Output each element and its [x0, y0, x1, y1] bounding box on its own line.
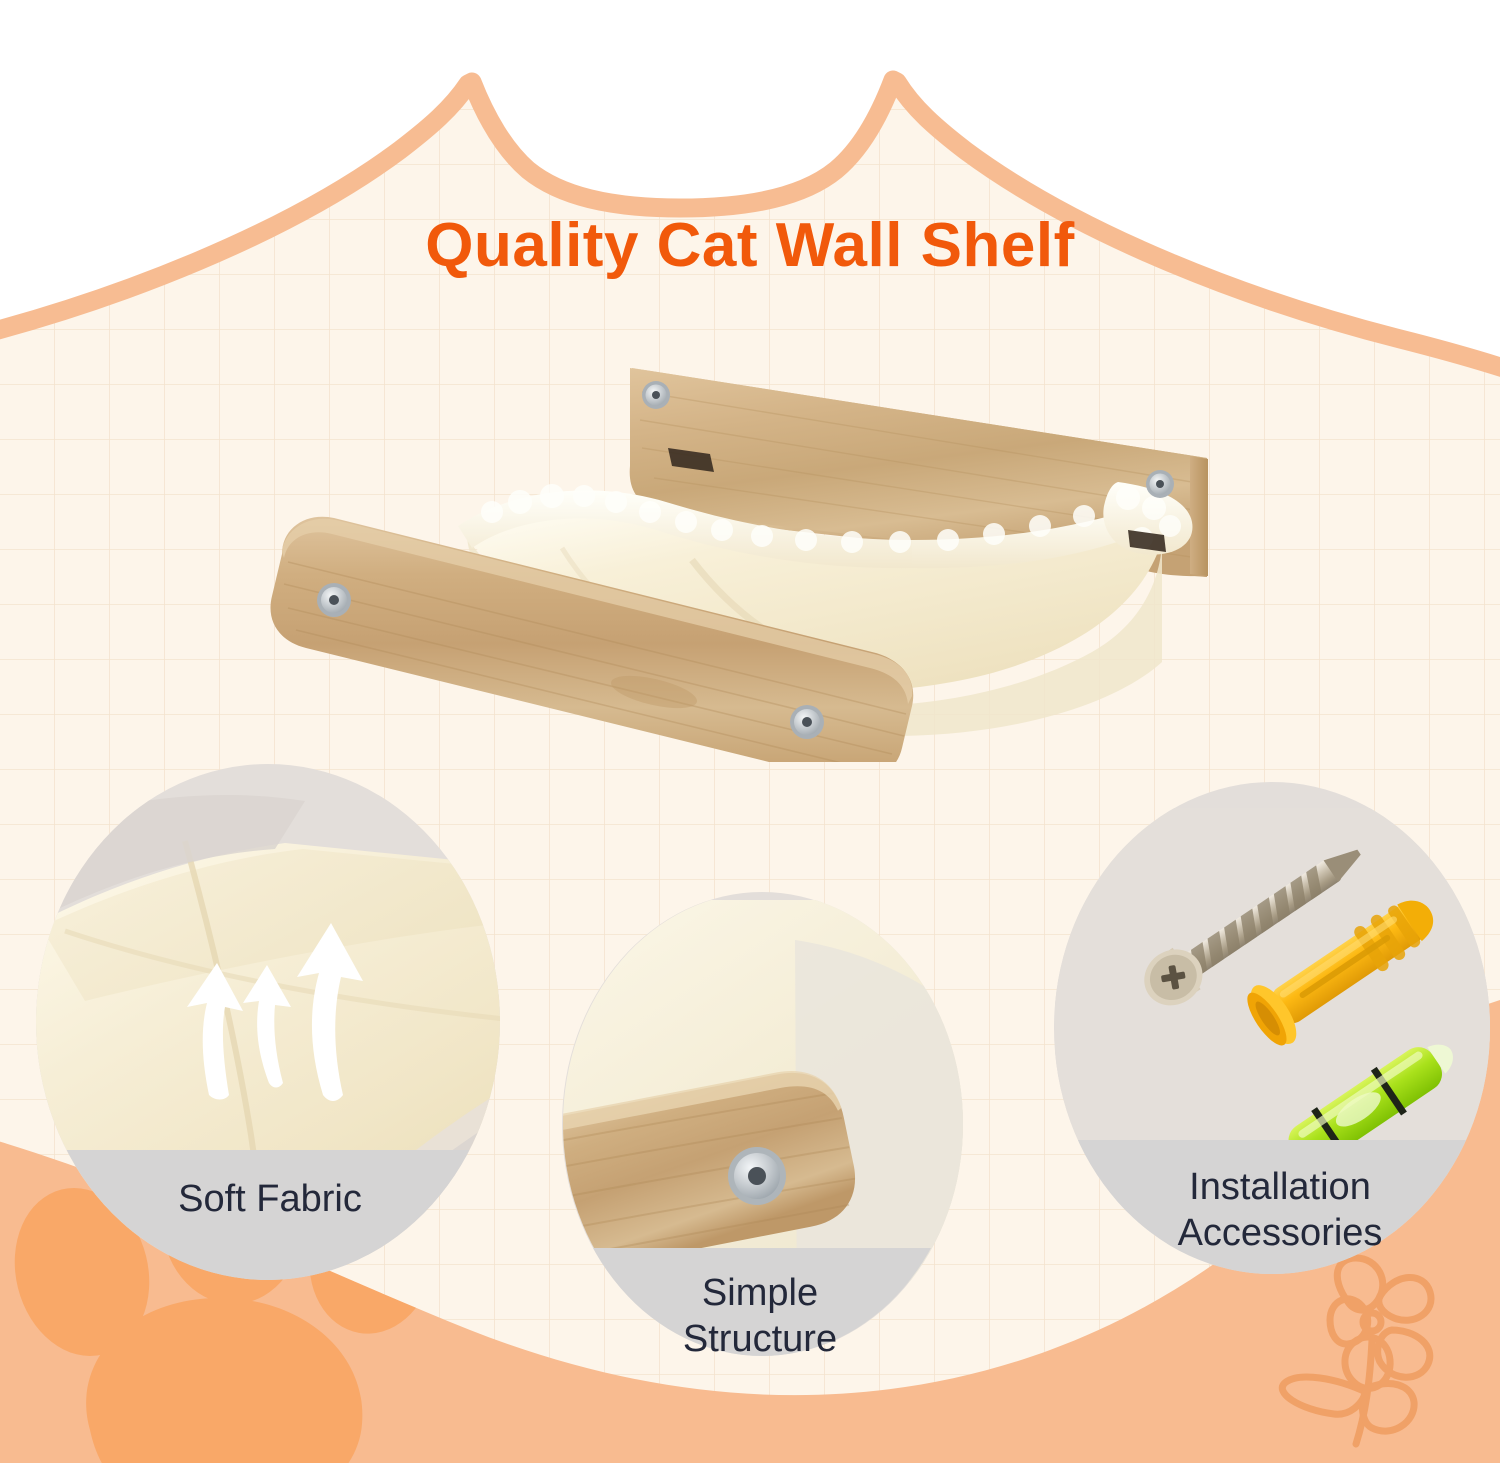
- feature-label-soft-fabric: Soft Fabric: [60, 1176, 480, 1222]
- product-infographic: Quality Cat Wall Shelf: [0, 0, 1500, 1463]
- feature-label-installation-accessories: Installation Accessories: [1080, 1164, 1480, 1257]
- feature-label-simple-structure: Simple Structure: [570, 1270, 950, 1363]
